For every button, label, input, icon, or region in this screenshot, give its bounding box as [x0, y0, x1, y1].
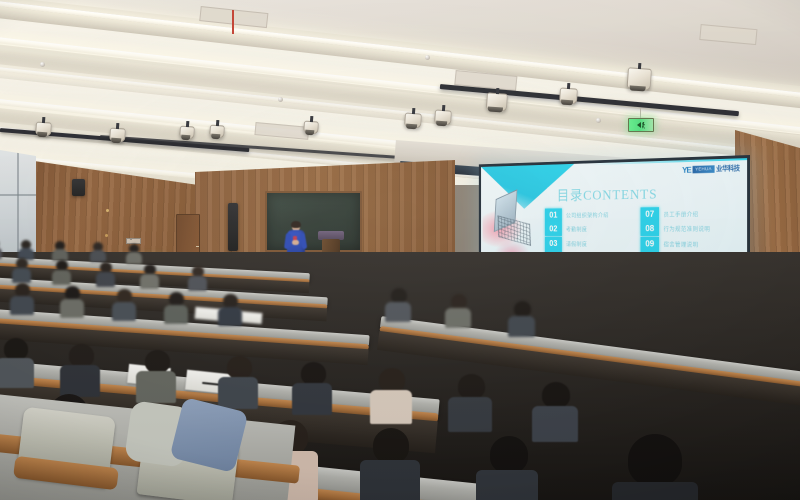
logo-chinese-name: 业华科技 [716, 164, 739, 174]
toc-label: 行为规范准则说明 [664, 225, 711, 234]
audience-member [18, 240, 34, 256]
audience-member [532, 382, 578, 434]
logo-mark: YE [682, 165, 691, 174]
audience-member [60, 344, 100, 390]
door-handle[interactable] [196, 246, 199, 247]
audience-member [218, 294, 242, 320]
stage-spotlight[interactable] [35, 122, 50, 135]
smoke-detector [425, 55, 430, 60]
audience-member [136, 350, 176, 396]
audience-member [385, 288, 411, 316]
stage-spotlight[interactable] [486, 92, 506, 109]
toc-number: 02 [545, 222, 562, 236]
wall-plaque [130, 238, 132, 240]
audience-member [188, 266, 207, 286]
emergency-exit-sign [628, 118, 654, 132]
toc-label: 请假制度 [566, 239, 587, 247]
audience-member [360, 428, 420, 500]
sprinkler-head [596, 118, 601, 123]
audience-member [0, 338, 34, 382]
audience-member [612, 434, 698, 500]
audience-member [90, 242, 106, 258]
toc-number: 01 [545, 208, 562, 222]
laptop-keyboard [497, 215, 531, 246]
exit-sign-stem [640, 108, 641, 118]
audience-member [60, 286, 84, 312]
stage-spotlight[interactable] [559, 87, 576, 102]
audience-member [370, 368, 412, 416]
toc-number: 03 [545, 237, 562, 251]
audience-member [508, 301, 535, 330]
presenter-hands [292, 240, 299, 245]
audience-member [292, 362, 332, 408]
sprinkler-head [40, 62, 45, 67]
audience-member [476, 436, 538, 500]
window-mullion [0, 194, 36, 196]
audience-member [164, 292, 188, 318]
stage-spotlight[interactable] [404, 112, 420, 126]
company-logo: YE YEHUA 业华科技 [682, 164, 739, 175]
list-item: 03 请假制度 [545, 237, 634, 251]
audience-member [445, 294, 471, 322]
list-item: 07 员工手册介绍 [640, 206, 737, 222]
toc-label: 公司组织架构介绍 [566, 211, 609, 220]
toc-number: 09 [640, 237, 659, 251]
audience-member [52, 260, 71, 280]
audience-member [448, 374, 492, 424]
sprinkler-head [278, 97, 283, 102]
wall-sensor [106, 209, 109, 212]
stage-spotlight[interactable] [209, 125, 223, 137]
audience-member [10, 283, 34, 309]
running-man-icon [642, 122, 646, 129]
list-item: 08 行为规范准则说明 [640, 221, 737, 236]
fire-sprinkler-drop [232, 10, 234, 34]
exit-arrow-icon [637, 122, 641, 128]
audience-member [96, 262, 115, 282]
toc-number: 07 [640, 207, 659, 222]
toc-label: 员工手册介绍 [664, 210, 699, 219]
toc-label: 考勤制度 [566, 225, 587, 233]
logo-wordmark: YEHUA [693, 165, 715, 173]
seat-row [377, 304, 800, 407]
ceiling-tile [699, 24, 757, 45]
stage-spotlight[interactable] [179, 126, 193, 138]
audience-member [0, 239, 2, 255]
audience-member [12, 258, 31, 278]
audience-member [140, 264, 159, 284]
wall-speaker-column [228, 203, 238, 251]
stage-spotlight[interactable] [303, 121, 317, 133]
stage-spotlight[interactable] [627, 67, 650, 88]
audience-member [52, 241, 68, 257]
list-item: 02 考勤制度 [545, 222, 634, 236]
audience-member [112, 289, 136, 315]
audience-member [126, 244, 142, 260]
list-item: 09 宿舍管理说明 [640, 237, 737, 252]
stage-spotlight[interactable] [434, 109, 450, 123]
audience-member [218, 356, 258, 402]
toc-label: 宿舍管理说明 [664, 240, 699, 249]
presenter-hair [291, 221, 301, 228]
list-item: 01 公司组织架构介绍 [545, 207, 634, 222]
toc-number: 08 [640, 222, 659, 236]
wall-speaker [72, 179, 85, 196]
green-chalkboard [265, 191, 362, 252]
wall-sensor [105, 234, 108, 237]
stage-spotlight[interactable] [109, 128, 124, 141]
lecture-hall-photo: YE YEHUA 业华科技 目录CONTENTS 01 公司组织架构介绍 02 … [0, 0, 800, 500]
